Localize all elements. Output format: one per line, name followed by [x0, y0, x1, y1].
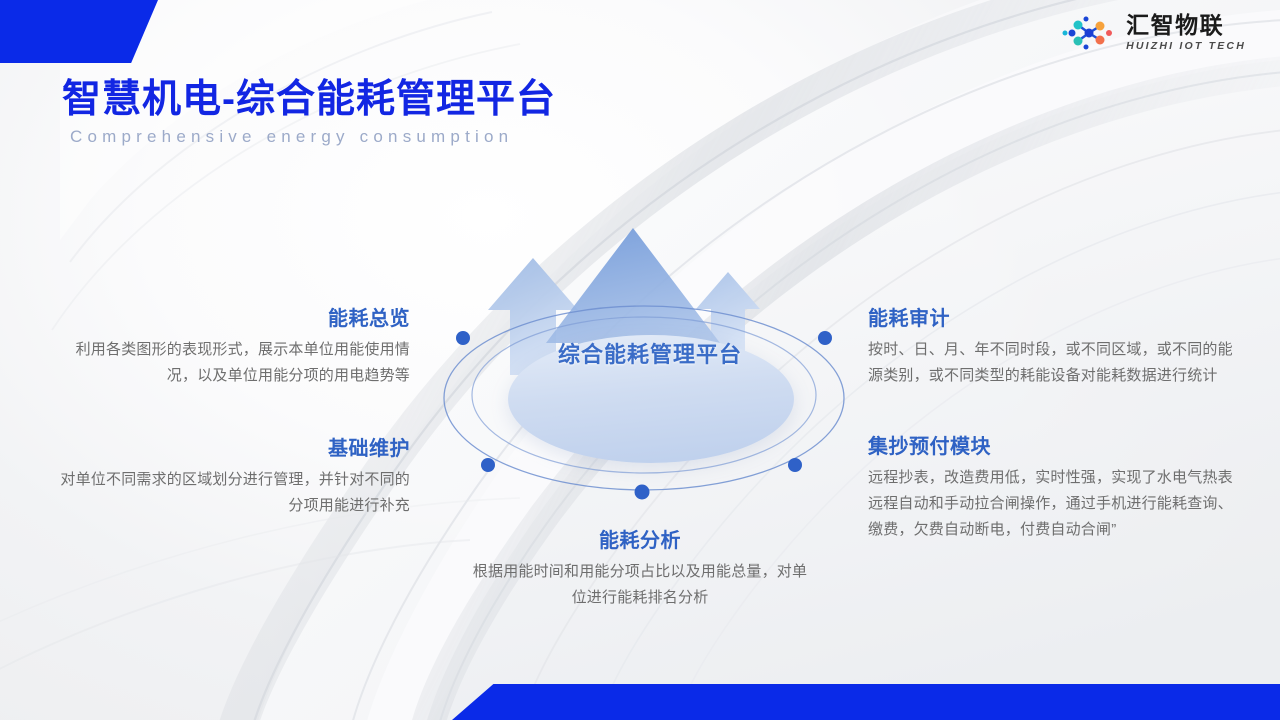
corner-accent-bottom-right [452, 684, 1280, 720]
brand-name-en: HUIZHI IOT TECH [1126, 41, 1246, 52]
brand-name-cn: 汇智物联 [1126, 14, 1246, 37]
slide-canvas: 智慧机电-综合能耗管理平台 Comprehensive energy consu… [0, 0, 1280, 720]
orbit-node [788, 458, 802, 472]
corner-accent-top-left [0, 0, 158, 63]
brand-logo: 汇智物联 HUIZHI IOT TECH [1061, 14, 1246, 52]
orbit-node [635, 485, 650, 500]
brand-logo-text: 汇智物联 HUIZHI IOT TECH [1126, 14, 1246, 52]
feature-prepaid-metering-module: 集抄预付模块 远程抄表，改造费用低，实时性强，实现了水电气热表远程自动和手动拉合… [868, 430, 1240, 543]
center-platform-label: 综合能耗管理平台 [420, 337, 880, 369]
feature-body: 按时、日、月、年不同时段，或不同区域，或不同的能源类别，或不同类型的耗能设备对能… [868, 337, 1238, 389]
molecule-network-icon [1061, 14, 1117, 52]
feature-body: 根据用能时间和用能分项占比以及用能总量，对单位进行能耗排名分析 [470, 559, 810, 611]
orbit-node [481, 458, 495, 472]
central-graphic: 综合能耗管理平台 [420, 215, 880, 515]
feature-body: 远程抄表，改造费用低，实时性强，实现了水电气热表远程自动和手动拉合闸操作，通过手… [868, 465, 1240, 543]
feature-energy-audit: 能耗审计 按时、日、月、年不同时段，或不同区域，或不同的能源类别，或不同类型的耗… [868, 302, 1238, 389]
feature-title: 基础维护 [58, 432, 410, 461]
feature-title: 能耗总览 [60, 302, 410, 331]
feature-title: 能耗分析 [470, 524, 810, 553]
feature-body: 利用各类图形的表现形式，展示本单位用能使用情况，以及单位用能分项的用电趋势等 [60, 337, 410, 389]
feature-title: 能耗审计 [868, 302, 1238, 331]
feature-basic-maintenance: 基础维护 对单位不同需求的区域划分进行管理，并针对不同的分项用能进行补充 [58, 432, 410, 519]
feature-energy-analysis: 能耗分析 根据用能时间和用能分项占比以及用能总量，对单位进行能耗排名分析 [470, 524, 810, 611]
page-subtitle: Comprehensive energy consumption [70, 127, 513, 147]
feature-body: 对单位不同需求的区域划分进行管理，并针对不同的分项用能进行补充 [58, 467, 410, 519]
feature-energy-overview: 能耗总览 利用各类图形的表现形式，展示本单位用能使用情况，以及单位用能分项的用电… [60, 302, 410, 389]
feature-title: 集抄预付模块 [868, 430, 1240, 459]
page-title: 智慧机电-综合能耗管理平台 [62, 68, 556, 124]
